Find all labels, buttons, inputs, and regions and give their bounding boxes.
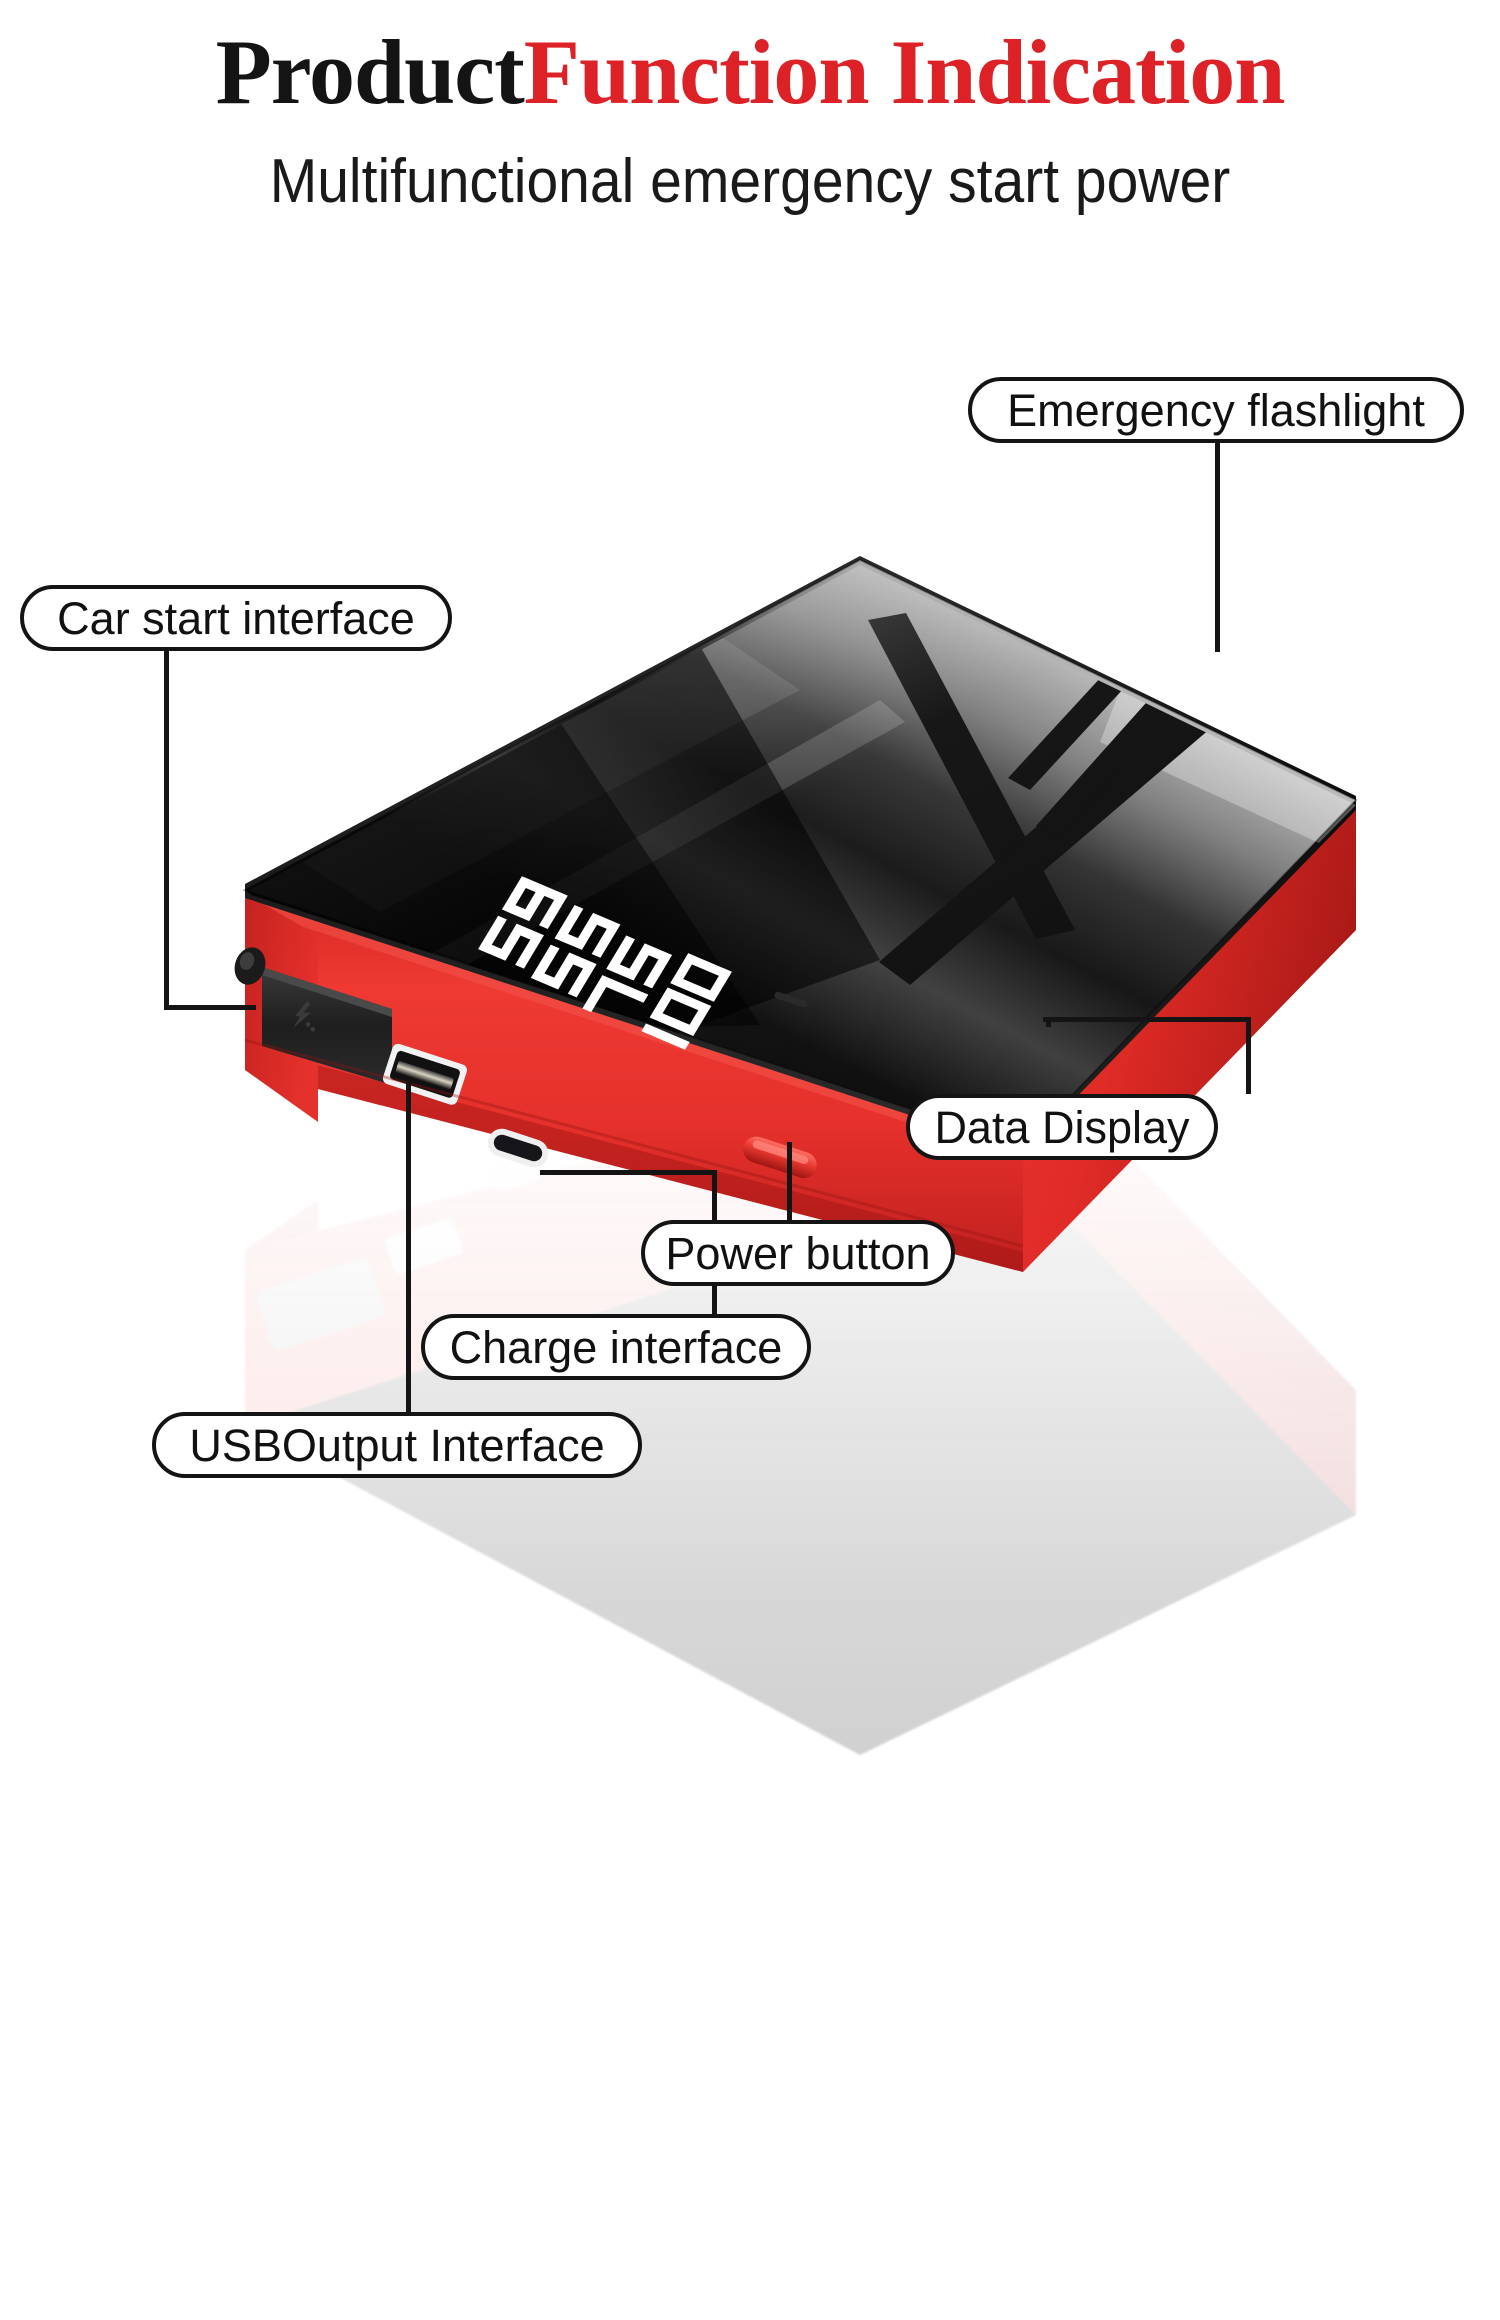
- leader-data-display-horizontal: [1043, 1017, 1251, 1022]
- leader-emergency-flashlight: [1215, 440, 1220, 652]
- leader-data-display-drop: [1246, 1017, 1251, 1094]
- callout-charge-interface[interactable]: Charge interface: [421, 1314, 811, 1380]
- callout-emergency-flashlight-label: Emergency flashlight: [1007, 388, 1425, 433]
- infographic-canvas: ProductFunction Indication Multifunction…: [0, 0, 1500, 1500]
- callout-car-start-interface-label: Car start interface: [57, 596, 415, 641]
- callout-usb-output-interface[interactable]: USBOutput Interface: [152, 1412, 642, 1478]
- callout-charge-interface-label: Charge interface: [450, 1325, 783, 1370]
- leader-car-start-horizontal: [164, 1005, 256, 1010]
- callout-power-button[interactable]: Power button: [641, 1220, 955, 1286]
- callout-power-button-label: Power button: [665, 1231, 930, 1276]
- callout-emergency-flashlight[interactable]: Emergency flashlight: [968, 377, 1464, 443]
- leader-power-button: [787, 1142, 792, 1220]
- leader-car-start-vertical: [164, 648, 169, 1010]
- callout-usb-output-interface-label: USBOutput Interface: [189, 1423, 604, 1468]
- leader-data-display-vertical: [1046, 1017, 1051, 1027]
- callout-data-display[interactable]: Data Display: [906, 1094, 1218, 1160]
- leader-charge-horizontal: [540, 1170, 716, 1175]
- callout-data-display-label: Data Display: [934, 1105, 1189, 1150]
- leader-usb-output: [406, 1082, 411, 1414]
- callout-car-start-interface[interactable]: Car start interface: [20, 585, 452, 651]
